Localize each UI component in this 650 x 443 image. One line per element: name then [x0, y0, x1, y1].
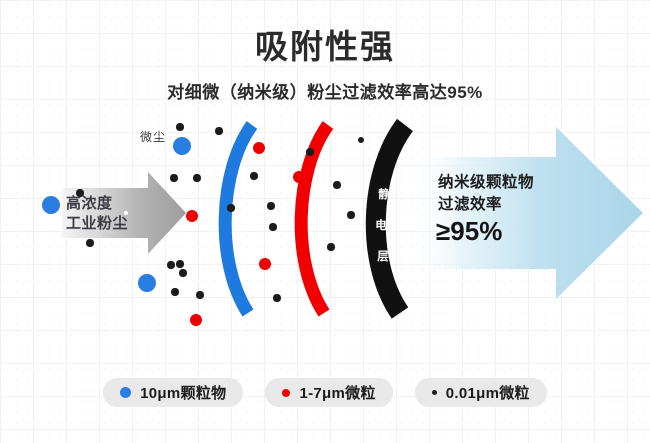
dust-label: 微尘	[140, 128, 166, 145]
legend-item-label: 10μm颗粒物	[140, 382, 226, 403]
red-particle	[293, 171, 305, 183]
inlet-arrow-label-line2: 工业粉尘	[66, 215, 128, 232]
black-particle	[333, 181, 340, 188]
black-particle	[269, 223, 276, 230]
red-particle	[186, 210, 198, 222]
black-particle	[327, 243, 334, 250]
black-particle	[170, 174, 177, 181]
legend-item-label: 0.01μm微粒	[446, 382, 530, 403]
black-particle	[227, 204, 234, 211]
legend-item-label: 1-7μm微粒	[299, 382, 375, 403]
outlet-arrow-label: 纳米级颗粒物过滤效率	[438, 172, 534, 217]
outlet-efficiency-value: ≥95%	[436, 216, 502, 247]
black-particle	[215, 127, 222, 134]
inlet-arrow-label-line1: 高浓度	[66, 195, 113, 212]
electrostatic-layer-char-1: 电	[373, 217, 389, 233]
outlet-arrow-label-line1: 纳米级颗粒物	[438, 174, 534, 191]
black-particle	[358, 137, 364, 143]
inlet-arrow-label: 高浓度工业粉尘	[66, 194, 128, 235]
red-particle	[190, 314, 202, 326]
blue-particle	[138, 274, 156, 292]
legend-dot-icon	[282, 389, 290, 397]
legend-dot-icon	[432, 390, 437, 395]
black-particle	[250, 172, 257, 179]
red-particle	[259, 258, 271, 270]
black-particle	[179, 269, 186, 276]
filtration-diagram: 微尘 高浓度工业粉尘 纳米级颗粒物过滤效率 ≥95% 静 电 层	[0, 0, 650, 443]
electrostatic-layer-char-0: 静	[376, 186, 392, 202]
legend-dot-icon	[120, 387, 131, 398]
blue-filter-layer	[225, 125, 252, 313]
black-particle	[176, 260, 183, 267]
black-particle	[267, 202, 274, 209]
blue-particle	[42, 196, 60, 214]
black-particle	[193, 174, 200, 181]
black-particle	[171, 288, 178, 295]
black-particle	[306, 148, 313, 155]
red-filter-layer	[301, 125, 328, 313]
blue-particle	[173, 137, 191, 155]
legend: 10μm颗粒物1-7μm微粒0.01μm微粒	[0, 378, 650, 407]
outlet-arrow-label-line2: 过滤效率	[438, 196, 502, 213]
red-particle	[253, 142, 265, 154]
legend-item[interactable]: 10μm颗粒物	[103, 378, 243, 407]
black-particle	[167, 261, 174, 268]
black-particle	[176, 123, 183, 130]
black-particle	[86, 239, 93, 246]
legend-item[interactable]: 0.01μm微粒	[415, 378, 547, 407]
black-particle	[196, 291, 203, 298]
legend-item[interactable]: 1-7μm微粒	[265, 378, 392, 407]
black-particle	[347, 211, 354, 218]
electrostatic-layer-char-2: 层	[375, 248, 391, 264]
black-particle	[273, 294, 280, 301]
infographic-canvas: 吸附性强 对细微（纳米级）粉尘过滤效率高达95%	[0, 0, 650, 443]
